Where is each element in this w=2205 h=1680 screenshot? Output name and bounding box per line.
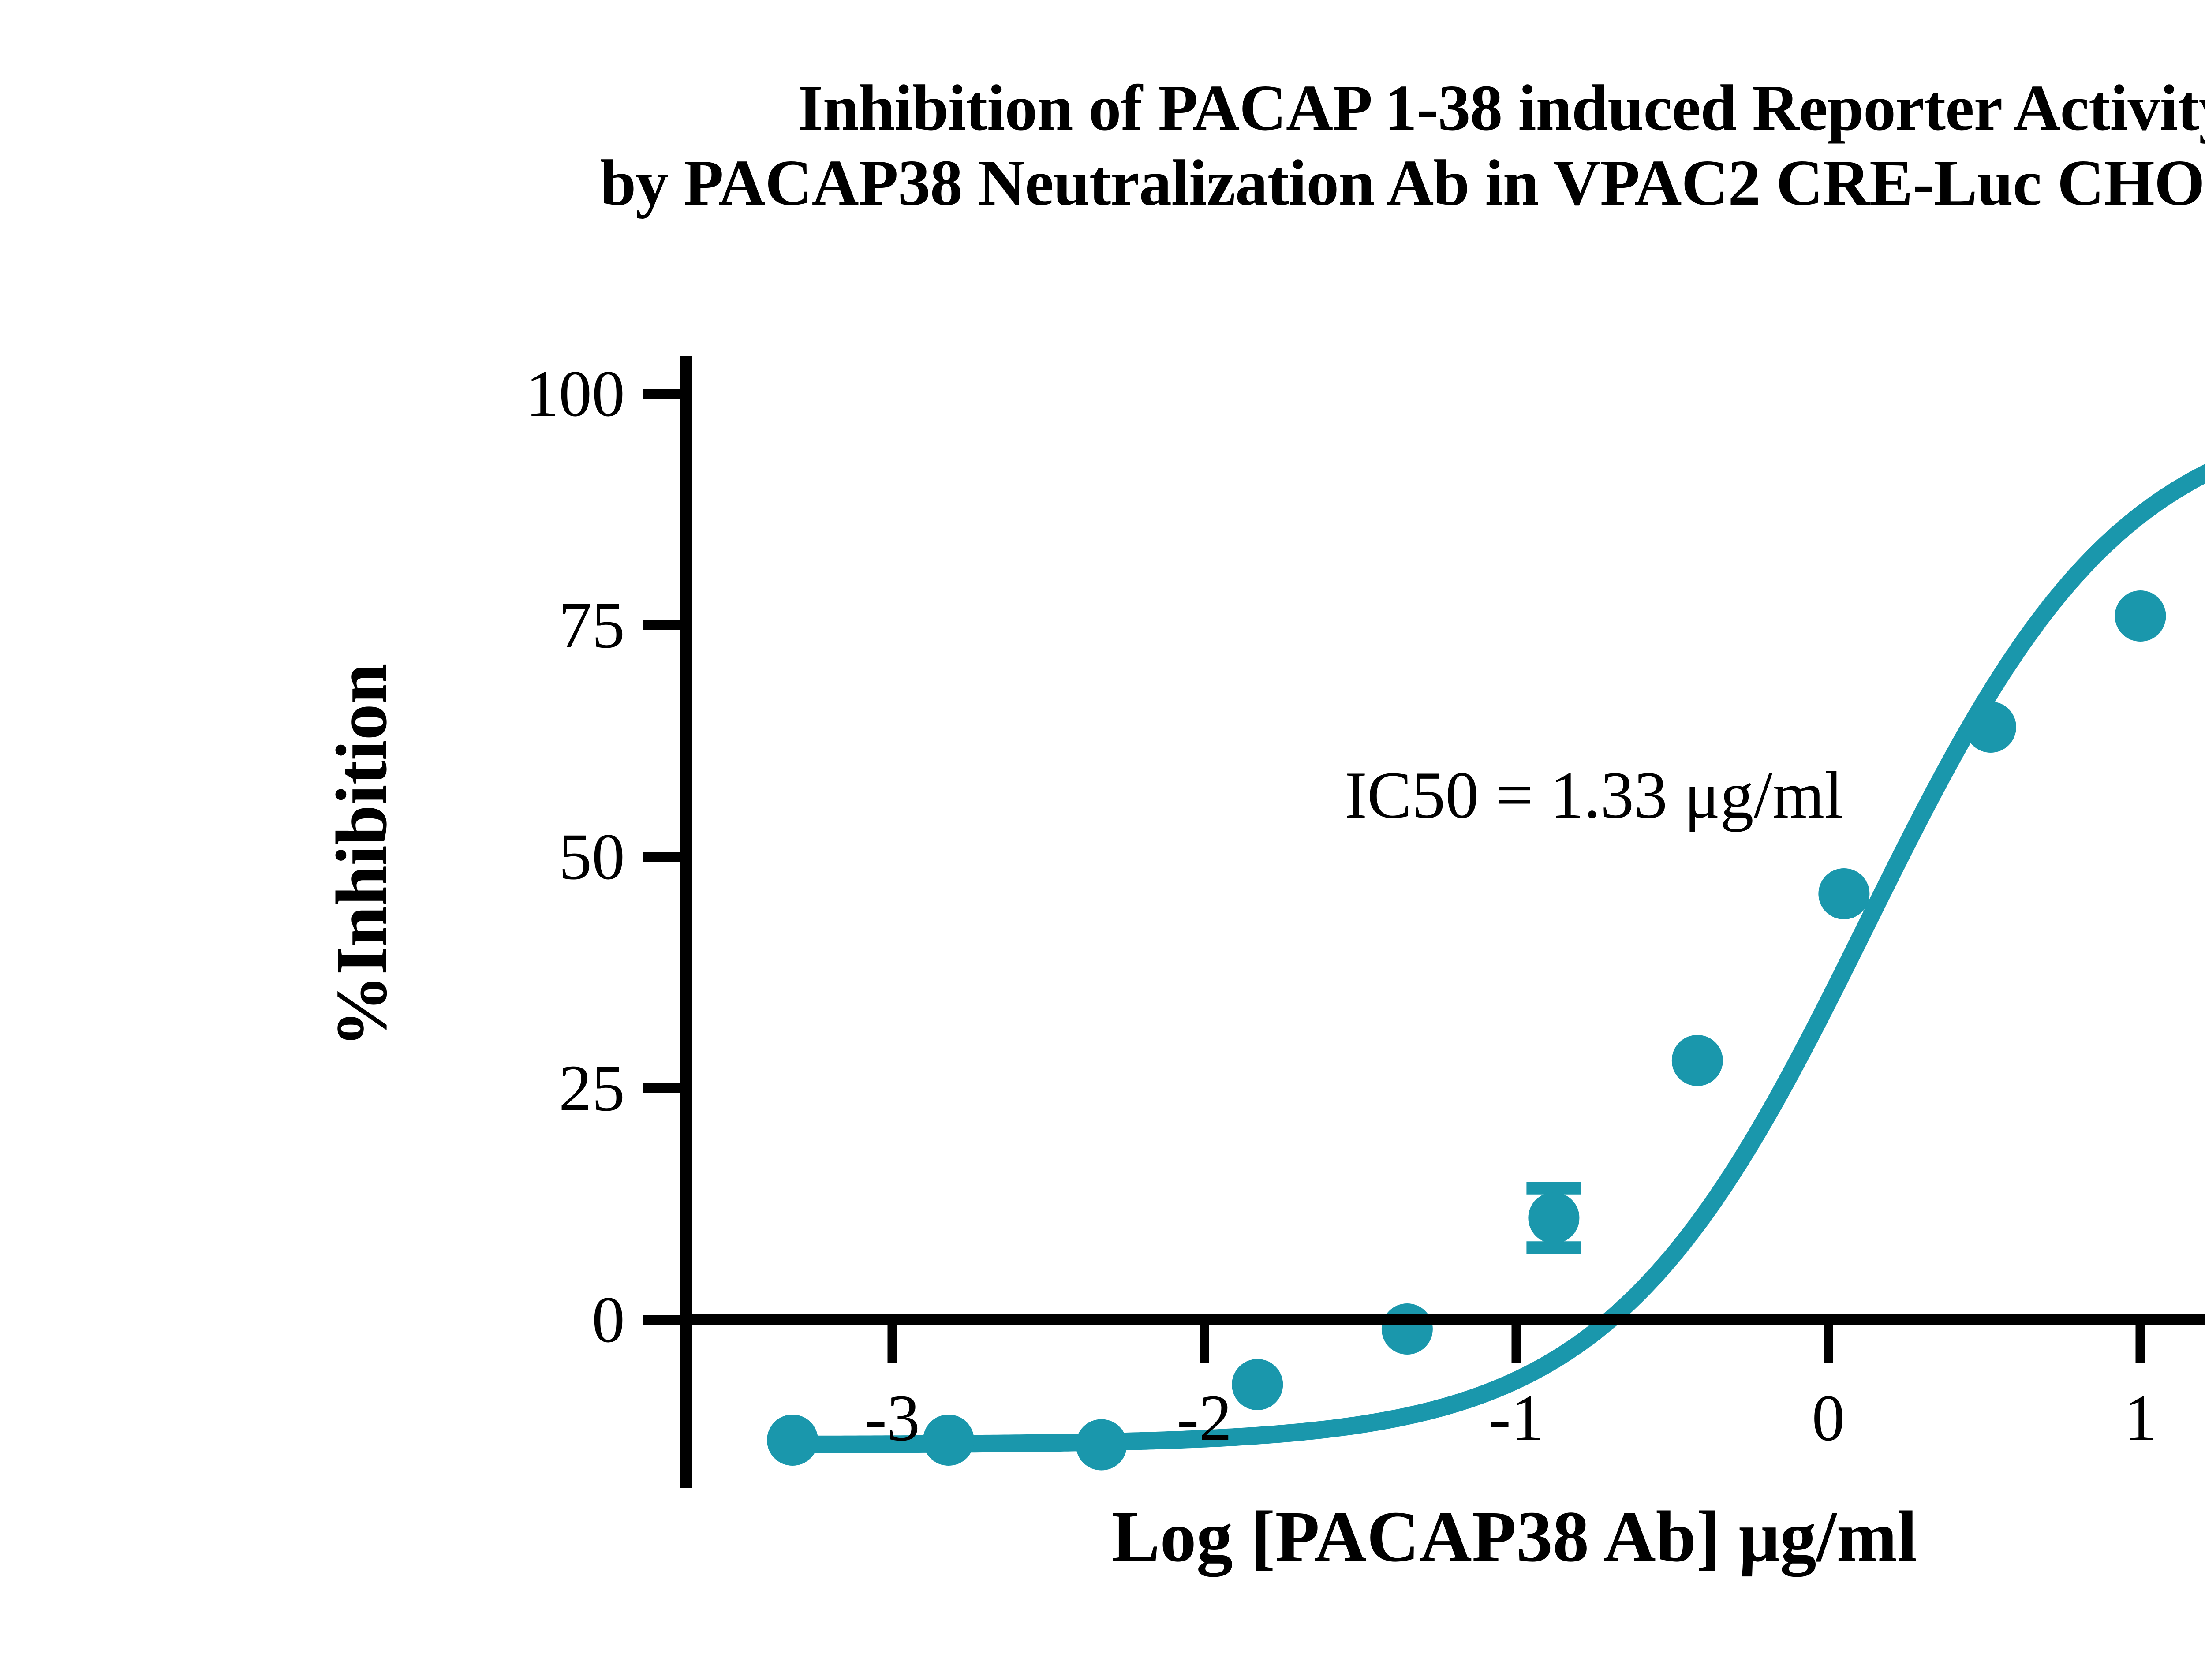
y-axis-title: %Inhibition [320,663,404,1047]
y-tick-label-0: 0 [397,1282,625,1358]
ic50-annotation: IC50 = 1.33 μg/ml [1345,757,1843,833]
figure-root: Inhibition of PACAP 1-38 induced Reporte… [0,0,2205,1680]
data-point-4[interactable] [1382,1303,1433,1355]
data-point-8[interactable] [1965,702,2016,753]
data-point-6[interactable] [1672,1035,1723,1086]
fit-curve-layer [792,444,2205,1445]
data-point-5[interactable] [1528,1192,1579,1243]
fit-curve [792,444,2205,1445]
y-tick-label-3: 75 [397,587,625,663]
data-point-2[interactable] [1076,1419,1127,1471]
x-tick-label-4: 1 [2124,1380,2157,1456]
x-tick-label-3: 0 [1812,1380,1845,1456]
x-tick-label-1: -2 [1177,1380,1232,1456]
data-point-1[interactable] [923,1415,974,1466]
y-tick-label-1: 25 [397,1050,625,1126]
data-point-7[interactable] [1818,868,1869,919]
x-tick-label-2: -1 [1489,1380,1544,1456]
data-point-9[interactable] [2115,590,2166,642]
data-point-3[interactable] [1232,1359,1283,1410]
y-tick-label-2: 50 [397,819,625,895]
x-axis-title: Log [PACAP38 Ab] μg/ml [0,1495,2205,1579]
y-tick-label-4: 100 [397,356,625,432]
x-tick-label-0: -3 [865,1380,920,1456]
data-point-0[interactable] [767,1415,818,1466]
axis-layer [643,356,2205,1488]
